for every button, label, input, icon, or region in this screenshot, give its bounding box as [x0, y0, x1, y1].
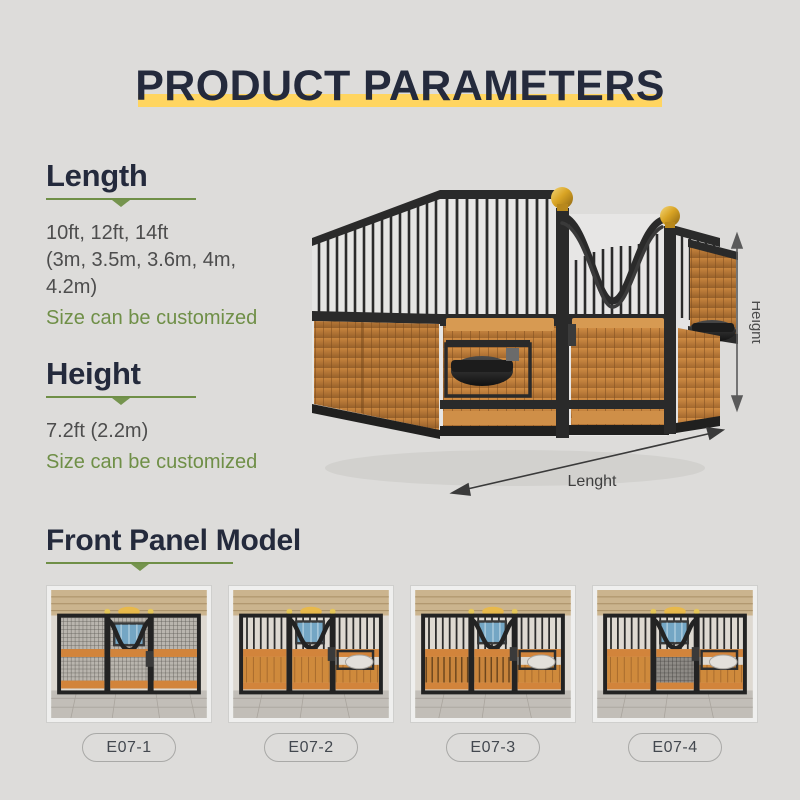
- spec-value-height: 7.2ft (2.2m): [46, 418, 304, 445]
- rule-chevron-icon: [131, 564, 149, 571]
- front-panel-heading: Front Panel Model: [46, 525, 766, 557]
- model-thumbnail-e07-3[interactable]: [410, 585, 576, 723]
- rule-chevron-icon: [112, 398, 130, 405]
- model-thumbnail-e07-1[interactable]: [46, 585, 212, 723]
- list-item[interactable]: E07-4: [592, 585, 758, 765]
- heading-rule-height: [46, 396, 196, 406]
- height-dimension-label: Height: [748, 300, 760, 344]
- heading-rule-length: [46, 198, 196, 208]
- length-dimension-label: Lenght: [568, 473, 617, 490]
- rule-chevron-icon: [112, 200, 130, 207]
- product-hero-image: Height Lenght: [300, 168, 760, 513]
- list-item[interactable]: E07-2: [228, 585, 394, 765]
- model-thumbnail-e07-4[interactable]: [592, 585, 758, 723]
- list-item[interactable]: E07-1: [46, 585, 212, 765]
- front-panel-section: Front Panel Model: [46, 525, 766, 572]
- model-thumbnail-e07-2[interactable]: [228, 585, 394, 723]
- model-label-e07-4[interactable]: E07-4: [628, 733, 722, 762]
- model-label-e07-3[interactable]: E07-3: [446, 733, 540, 762]
- spec-note-length: Size can be customized: [46, 305, 304, 332]
- list-item[interactable]: E07-3: [410, 585, 576, 765]
- page-title-text: PRODUCT PARAMETERS: [135, 62, 665, 110]
- spec-section-length: Length 10ft, 12ft, 14ft (3m, 3.5m, 3.6m,…: [46, 160, 304, 332]
- spec-section-height: Height 7.2ft (2.2m) Size can be customiz…: [46, 358, 304, 476]
- spec-value-length: 10ft, 12ft, 14ft (3m, 3.5m, 3.6m, 4m, 4.…: [46, 220, 304, 301]
- page-title: PRODUCT PARAMETERS: [0, 62, 800, 111]
- spec-heading-height: Height: [46, 358, 304, 391]
- heading-rule-front-panel: [46, 562, 233, 572]
- model-label-e07-1[interactable]: E07-1: [82, 733, 176, 762]
- spec-note-height: Size can be customized: [46, 449, 304, 476]
- spec-heading-length: Length: [46, 160, 304, 193]
- front-panel-model-list: E07-1: [46, 585, 758, 765]
- model-label-e07-2[interactable]: E07-2: [264, 733, 358, 762]
